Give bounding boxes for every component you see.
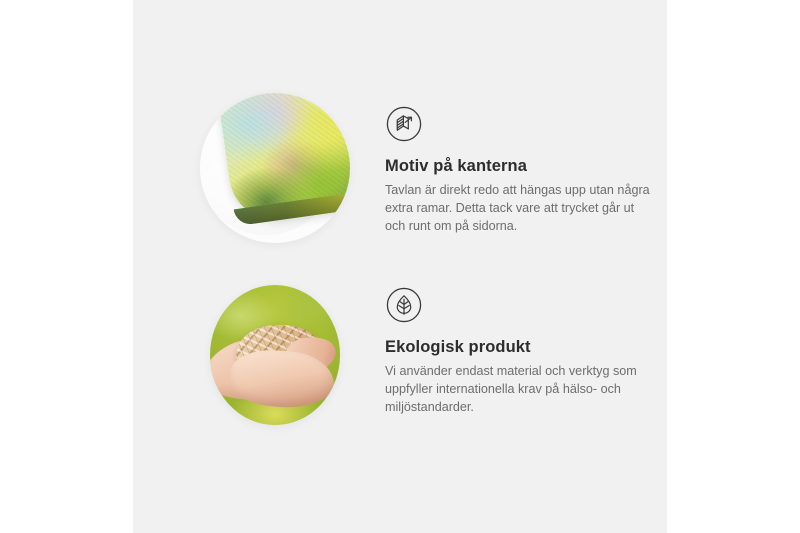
leaf-icon bbox=[385, 286, 423, 324]
feature-text-eco: Ekologisk produkt Vi använder endast mat… bbox=[385, 286, 655, 417]
feature-block-eco: Ekologisk produkt Vi använder endast mat… bbox=[133, 266, 667, 533]
canvas-wrapped-edges-icon bbox=[385, 105, 423, 143]
content-panel: Motiv på kanterna Tavlan är direkt redo … bbox=[133, 0, 667, 533]
hands-holding-wood-chips-photo bbox=[210, 285, 340, 425]
feature-description: Tavlan är direkt redo att hängas upp uta… bbox=[385, 182, 655, 236]
feature-block-edges: Motiv på kanterna Tavlan är direkt redo … bbox=[133, 0, 667, 266]
feature-description: Vi använder endast material och verktyg … bbox=[385, 363, 655, 417]
feature-title: Ekologisk produkt bbox=[385, 338, 655, 357]
canvas-print-corner-photo bbox=[200, 93, 350, 243]
product-feature-infographic: Motiv på kanterna Tavlan är direkt redo … bbox=[0, 0, 800, 533]
feature-text-edges: Motiv på kanterna Tavlan är direkt redo … bbox=[385, 105, 655, 236]
feature-title: Motiv på kanterna bbox=[385, 157, 655, 176]
